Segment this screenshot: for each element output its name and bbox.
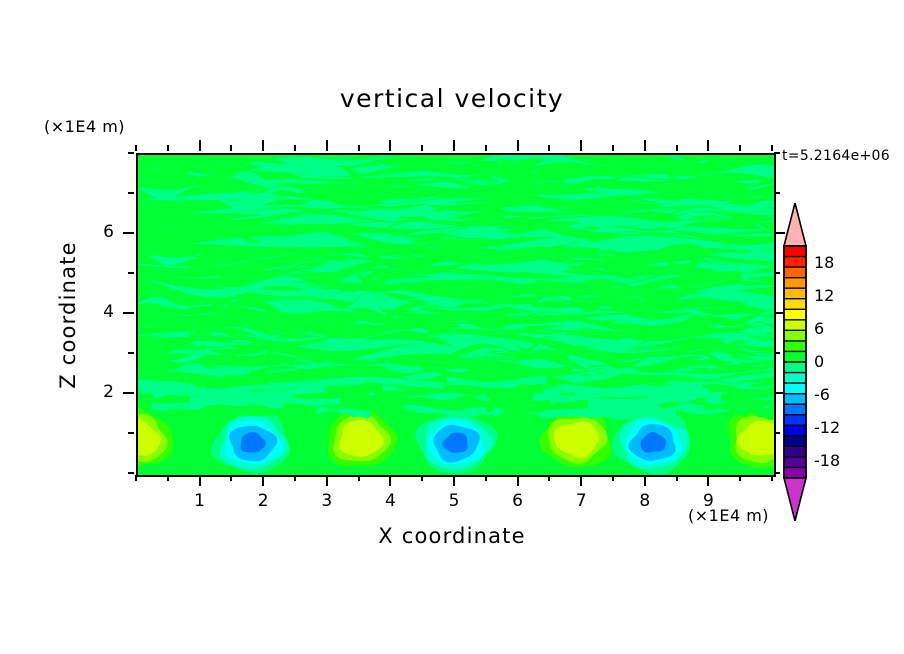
x-tick-top [421, 145, 423, 151]
y-tick-minor [128, 432, 134, 434]
y-tick-right [774, 352, 780, 354]
x-tick-minor [167, 475, 169, 481]
x-tick-top [644, 140, 646, 151]
x-tick-top [294, 145, 296, 151]
colorbar-over-arrow [784, 203, 806, 246]
x-tick-minor [485, 475, 487, 481]
x-tick-label: 2 [250, 491, 276, 511]
y-tick-minor [128, 152, 134, 154]
colorbar-band [784, 373, 806, 384]
x-tick-label: 1 [187, 491, 213, 511]
colorbar-band [784, 383, 806, 394]
colorbar-band [784, 257, 806, 268]
x-tick-top [230, 145, 232, 151]
y-tick-minor [128, 352, 134, 354]
x-tick-major [707, 475, 709, 486]
x-tick-top [262, 140, 264, 151]
colorbar-band [784, 425, 806, 436]
x-tick-top [676, 145, 678, 151]
x-tick-top [517, 140, 519, 151]
colorbar-tick-label: -12 [814, 418, 840, 437]
y-tick-right [774, 272, 780, 274]
contour-plot-area [136, 153, 776, 477]
colorbar-under-arrow [784, 478, 806, 521]
y-tick-major [123, 312, 134, 314]
colorbar-band [784, 436, 806, 447]
x-tick-minor [294, 475, 296, 481]
x-tick-top [580, 140, 582, 151]
colorbar-gradient [783, 203, 807, 521]
colorbar-band [784, 446, 806, 457]
y-tick-minor [128, 192, 134, 194]
x-axis-title: X coordinate [0, 524, 904, 548]
x-tick-major [326, 475, 328, 486]
x-tick-major [517, 475, 519, 486]
x-tick-minor [135, 475, 137, 481]
colorbar-band [784, 351, 806, 362]
x-tick-major [389, 475, 391, 486]
y-tick-label: 6 [88, 222, 114, 242]
y-tick-right [774, 152, 780, 154]
x-tick-top [485, 145, 487, 151]
y-tick-label: 2 [88, 382, 114, 402]
colorbar-tick-label: -6 [814, 385, 830, 404]
x-tick-label: 4 [377, 491, 403, 511]
y-axis-unit-label: (×1E4 m) [44, 117, 125, 136]
vertical-velocity-field [138, 155, 774, 475]
x-tick-label: 9 [695, 491, 721, 511]
y-tick-right [774, 472, 780, 474]
x-tick-top [548, 145, 550, 151]
x-tick-top [358, 145, 360, 151]
x-tick-top [167, 145, 169, 151]
colorbar-tick-label: 0 [814, 352, 824, 371]
x-tick-top [612, 145, 614, 151]
colorbar-band [784, 288, 806, 299]
colorbar-band [784, 404, 806, 415]
timestamp-annotation: t=5.2164e+06 [782, 148, 890, 164]
x-tick-top [389, 140, 391, 151]
x-tick-top [739, 145, 741, 151]
x-tick-minor [421, 475, 423, 481]
y-tick-right [774, 432, 780, 434]
x-tick-major [199, 475, 201, 486]
colorbar-band [784, 457, 806, 468]
x-tick-minor [612, 475, 614, 481]
x-tick-major [580, 475, 582, 486]
y-tick-major [123, 392, 134, 394]
x-tick-major [644, 475, 646, 486]
colorbar-band [784, 309, 806, 320]
colorbar-tick-label: 18 [814, 253, 834, 272]
page-title: vertical velocity [0, 84, 904, 113]
colorbar-tick-label: 12 [814, 286, 834, 305]
colorbar-band [784, 330, 806, 341]
x-tick-major [262, 475, 264, 486]
x-tick-minor [739, 475, 741, 481]
y-tick-right [774, 192, 780, 194]
colorbar-band [784, 299, 806, 310]
x-tick-top [453, 140, 455, 151]
colorbar-band [784, 278, 806, 289]
colorbar [783, 203, 807, 521]
x-tick-major [453, 475, 455, 486]
x-tick-label: 6 [505, 491, 531, 511]
x-tick-top [199, 140, 201, 151]
x-tick-label: 7 [568, 491, 594, 511]
y-tick-minor [128, 272, 134, 274]
colorbar-band [784, 415, 806, 426]
x-tick-label: 5 [441, 491, 467, 511]
y-tick-minor [128, 472, 134, 474]
x-tick-top [771, 145, 773, 151]
figure-canvas: vertical velocity (×1E4 m) (×1E4 m) t=5.… [0, 0, 904, 654]
y-tick-major [123, 232, 134, 234]
colorbar-band [784, 246, 806, 257]
x-tick-minor [358, 475, 360, 481]
colorbar-tick-label: 6 [814, 319, 824, 338]
colorbar-band [784, 320, 806, 331]
colorbar-band [784, 341, 806, 352]
x-tick-label: 8 [632, 491, 658, 511]
x-tick-minor [548, 475, 550, 481]
x-tick-minor [676, 475, 678, 481]
colorbar-band [784, 267, 806, 278]
x-tick-minor [771, 475, 773, 481]
colorbar-band [784, 467, 806, 478]
y-tick-label: 4 [88, 302, 114, 322]
x-tick-top [326, 140, 328, 151]
colorbar-band [784, 362, 806, 373]
y-axis-title: Z coordinate [56, 205, 80, 425]
colorbar-band [784, 394, 806, 405]
x-tick-minor [230, 475, 232, 481]
x-tick-top [707, 140, 709, 151]
colorbar-tick-label: -18 [814, 451, 840, 470]
x-tick-top [135, 145, 137, 151]
x-tick-label: 3 [314, 491, 340, 511]
